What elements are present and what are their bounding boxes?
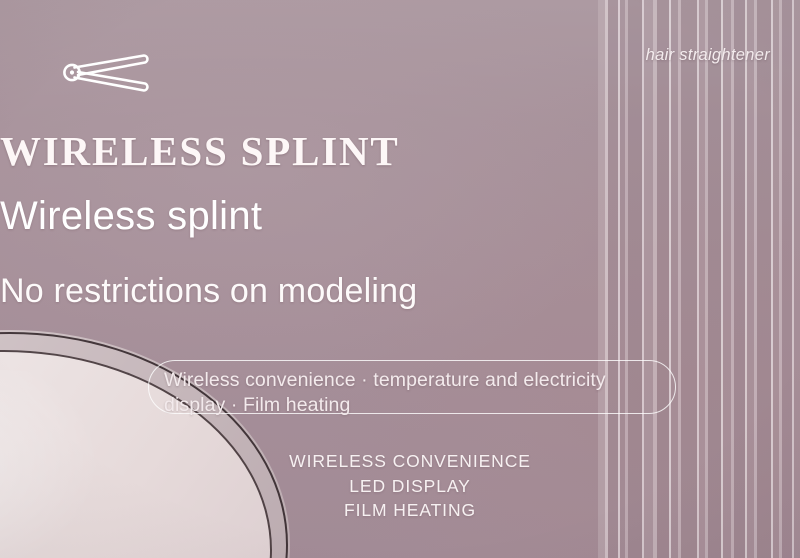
hair-straightener-icon	[60, 47, 156, 101]
caption-stack: WIRELESS CONVENIENCE LED DISPLAY FILM HE…	[230, 449, 590, 523]
corner-label: hair straightener	[646, 46, 770, 65]
caption-line-2: LED DISPLAY	[230, 474, 590, 499]
page-title-sans: Wireless splint	[0, 196, 800, 236]
promo-banner: hair straightener WIRELESS SPLINT Wirele…	[0, 0, 800, 558]
caption-line-1: WIRELESS CONVENIENCE	[230, 449, 590, 474]
page-title-serif: WIRELESS SPLINT	[0, 131, 800, 172]
page-subtitle: No restrictions on modeling	[0, 274, 800, 308]
feature-pill-text: Wireless convenience · temperature and e…	[164, 368, 664, 418]
caption-line-3: FILM HEATING	[230, 498, 590, 523]
